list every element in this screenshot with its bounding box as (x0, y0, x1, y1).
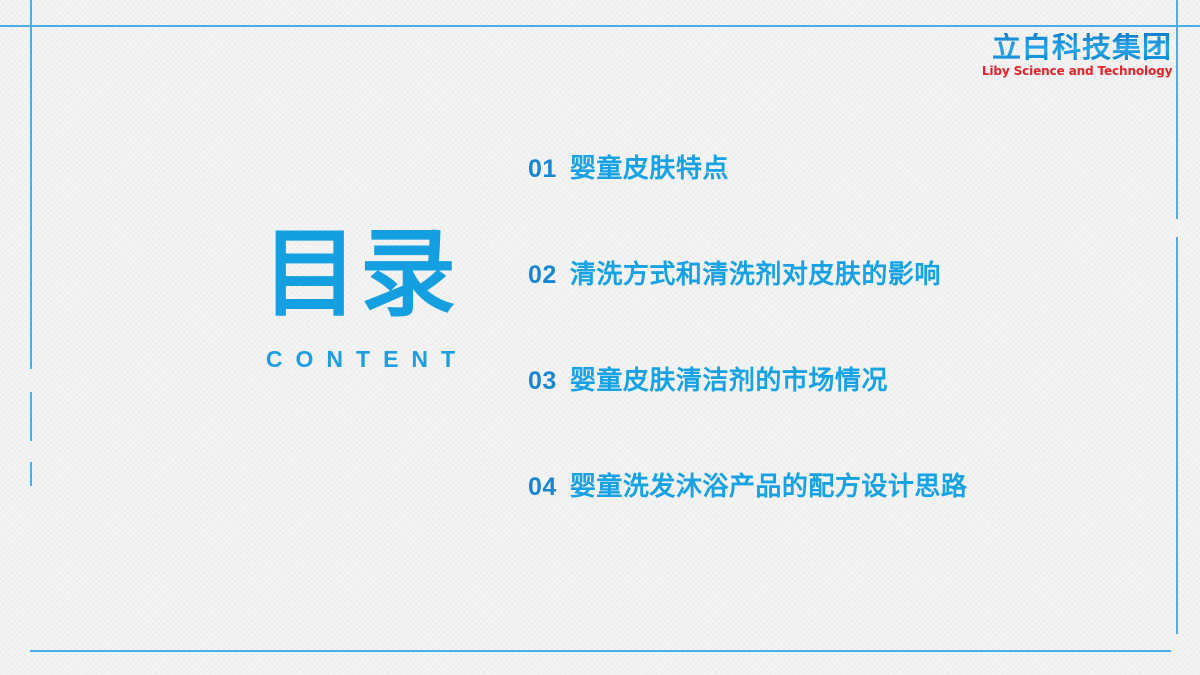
toc-item-number: 02 (528, 261, 557, 290)
decorative-line-bottom (30, 650, 1171, 652)
toc-item-number: 03 (528, 367, 557, 396)
company-logo-name-cn: 立白科技集团 (976, 33, 1172, 62)
decorative-line-left (30, 0, 32, 369)
toc-item-number: 04 (528, 473, 557, 502)
company-logo: 立白科技集团 Liby Science and Technology (976, 33, 1172, 78)
page-title-cn: 目录 (200, 222, 520, 328)
toc-item-label: 婴童皮肤特点 (570, 148, 729, 185)
page-title-en: CONTENT (214, 346, 520, 373)
toc-item-label: 清洗方式和清洗剂对皮肤的影响 (570, 254, 941, 291)
toc-item-label: 婴童皮肤清洁剂的市场情况 (570, 360, 888, 397)
toc-item-number: 01 (528, 155, 557, 184)
toc-item-02[interactable]: 02 清洗方式和清洗剂对皮肤的影响 (528, 254, 1128, 360)
decorative-line-top (0, 25, 1200, 27)
decorative-line-right-bottom (1176, 237, 1178, 634)
company-logo-name-en: Liby Science and Technology (982, 65, 1172, 78)
decorative-line-left-dash-2 (30, 462, 32, 486)
toc-item-01[interactable]: 01 婴童皮肤特点 (528, 148, 1128, 254)
toc-item-04[interactable]: 04 婴童洗发沐浴产品的配方设计思路 (528, 466, 1128, 572)
presentation-slide: 立白科技集团 Liby Science and Technology 目录 CO… (0, 0, 1200, 675)
decorative-line-left-dash-1 (30, 392, 32, 441)
page-title: 目录 CONTENT (200, 222, 520, 373)
toc-item-03[interactable]: 03 婴童皮肤清洁剂的市场情况 (528, 360, 1128, 466)
table-of-contents: 01 婴童皮肤特点 02 清洗方式和清洗剂对皮肤的影响 03 婴童皮肤清洁剂的市… (528, 148, 1128, 572)
decorative-line-right-top (1176, 0, 1178, 219)
toc-item-label: 婴童洗发沐浴产品的配方设计思路 (570, 466, 968, 503)
